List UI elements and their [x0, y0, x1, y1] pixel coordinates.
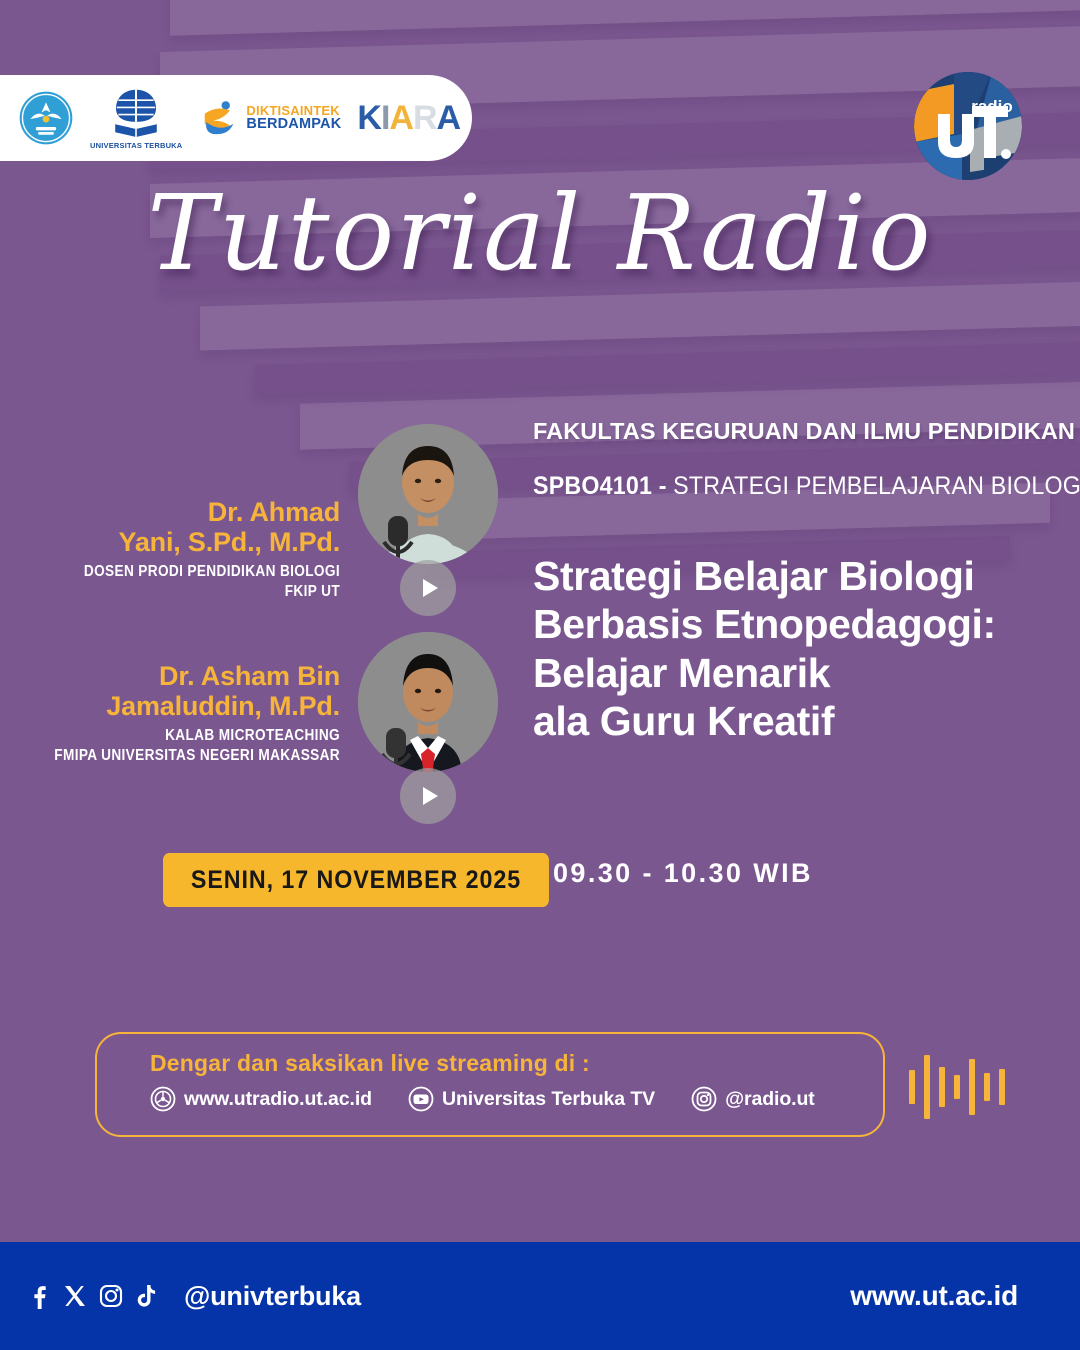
- play-triangle-icon: [423, 579, 438, 597]
- topic-line-1: Strategi Belajar Biologi: [533, 552, 1053, 600]
- diktisaintek-icon: [198, 97, 240, 139]
- topic-line-2: Berbasis Etnopedagogi:: [533, 600, 1053, 648]
- kiara-letter-a1: A: [389, 99, 413, 137]
- streaming-links: www.utradio.ut.ac.id Universitas Terbuka…: [150, 1086, 883, 1112]
- streaming-link-instagram[interactable]: @radio.ut: [691, 1086, 815, 1112]
- tut-wuri-handayani-icon: [18, 90, 74, 146]
- youtube-icon: [408, 1086, 434, 1112]
- speaker-1-name-line2: Yani, S.Pd., M.Pd.: [10, 528, 340, 558]
- streaming-link-youtube[interactable]: Universitas Terbuka TV: [408, 1086, 655, 1112]
- footer-website: www.ut.ac.id: [850, 1280, 1018, 1312]
- streaming-heading: Dengar dan saksikan live streaming di :: [150, 1050, 883, 1077]
- event-time: 09.30 - 10.30 WIB: [553, 858, 813, 889]
- globe-icon: [150, 1086, 176, 1112]
- course-line: SPBO4101 - STRATEGI PEMBELAJARAN BIOLOGI: [533, 472, 1080, 501]
- speaker-1-portrait-icon: [358, 424, 498, 564]
- facebook-icon[interactable]: [26, 1283, 52, 1309]
- kiara-letter-r: R: [413, 99, 437, 137]
- streaming-website-label: www.utradio.ut.ac.id: [184, 1088, 372, 1111]
- speaker-1-play-button[interactable]: [400, 560, 456, 616]
- kiara-logo: KIARA: [357, 99, 460, 138]
- ut-radio-logo: radio: [914, 72, 1022, 180]
- x-icon[interactable]: [62, 1283, 88, 1309]
- speaker-2-photo: [358, 632, 498, 772]
- speaker-2-name-line1: Dr. Asham Bin: [10, 662, 340, 692]
- diktisaintek-line2: BERDAMPAK: [246, 117, 341, 132]
- speaker-1-text: Dr. Ahmad Yani, S.Pd., M.Pd. DOSEN PRODI…: [10, 498, 340, 601]
- course-code: SPBO4101 -: [533, 472, 667, 500]
- kiara-letter-k: K: [357, 99, 381, 137]
- page-title: Tutorial Radio: [0, 172, 1080, 294]
- speaker-2-name-line2: Jamaluddin, M.Pd.: [10, 692, 340, 722]
- universitas-terbuka-caption: UNIVERSITAS TERBUKA: [90, 141, 182, 150]
- ut-emblem-icon: [112, 87, 160, 139]
- speaker-2-role-line2: FMIPA UNIVERSITAS NEGERI MAKASSAR: [50, 746, 340, 765]
- speaker-2-portrait-icon: [358, 632, 498, 772]
- streaming-instagram-label: @radio.ut: [725, 1088, 815, 1111]
- speaker-1-role: DOSEN PRODI PENDIDIKAN BIOLOGI FKIP UT: [50, 562, 340, 601]
- course-name: STRATEGI PEMBELAJARAN BIOLOGI: [673, 472, 1080, 500]
- diktisaintek-line1: DIKTISAINTEK: [246, 104, 341, 117]
- ut-radio-icon: radio: [914, 72, 1022, 180]
- tiktok-icon[interactable]: [134, 1283, 160, 1309]
- topic-title: Strategi Belajar Biologi Berbasis Etnope…: [533, 552, 1053, 746]
- instagram-icon[interactable]: [98, 1283, 124, 1309]
- faculty-name: FAKULTAS KEGURUAN DAN ILMU PENDIDIKAN: [533, 418, 1075, 445]
- partner-logo-bar: UNIVERSITAS TERBUKA DIKTISAINTEK BERDAMP…: [0, 75, 472, 161]
- topic-line-4: ala Guru Kreatif: [533, 697, 1053, 745]
- streaming-youtube-label: Universitas Terbuka TV: [442, 1088, 655, 1111]
- topic-line-3: Belajar Menarik: [533, 649, 1053, 697]
- play-triangle-icon: [423, 787, 438, 805]
- footer-bar: @univterbuka www.ut.ac.id: [0, 1242, 1080, 1350]
- live-streaming-box: Dengar dan saksikan live streaming di : …: [95, 1032, 885, 1137]
- footer-social-group: @univterbuka: [26, 1281, 361, 1312]
- event-date-badge: SENIN, 17 NOVEMBER 2025: [163, 853, 549, 907]
- speaker-1-photo: [358, 424, 498, 564]
- diktisaintek-logo: DIKTISAINTEK BERDAMPAK: [198, 97, 341, 139]
- speaker-2-text: Dr. Asham Bin Jamaluddin, M.Pd. KALAB MI…: [10, 662, 340, 765]
- kiara-letter-a2: A: [437, 99, 461, 137]
- equalizer-bars: [909, 1048, 1005, 1126]
- streaming-link-website[interactable]: www.utradio.ut.ac.id: [150, 1086, 372, 1112]
- speaker-1-name-line1: Dr. Ahmad: [10, 498, 340, 528]
- speaker-2-play-button[interactable]: [400, 768, 456, 824]
- instagram-icon: [691, 1086, 717, 1112]
- footer-handle: @univterbuka: [184, 1281, 361, 1312]
- universitas-terbuka-logo: UNIVERSITAS TERBUKA: [90, 87, 182, 150]
- speaker-2-role-line1: KALAB MICROTEACHING: [50, 726, 340, 745]
- poster-canvas: UNIVERSITAS TERBUKA DIKTISAINTEK BERDAMP…: [0, 0, 1080, 1350]
